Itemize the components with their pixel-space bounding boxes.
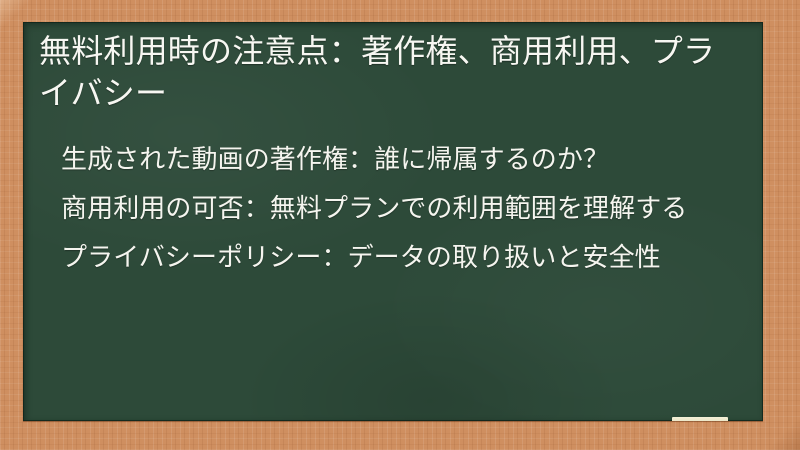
chalkboard-slide: 無料利用時の注意点：著作権、商用利用、プライバシー 生成された動画の著作権：誰に… [0, 0, 800, 450]
list-item: 生成された動画の著作権：誰に帰属するのか？ [61, 142, 743, 177]
page-title: 無料利用時の注意点：著作権、商用利用、プライバシー [39, 30, 743, 114]
bullet-list: 生成された動画の著作権：誰に帰属するのか？ 商用利用の可否：無料プランでの利用範… [39, 142, 743, 274]
chalkboard-surface: 無料利用時の注意点：著作権、商用利用、プライバシー 生成された動画の著作権：誰に… [23, 22, 763, 421]
list-item: プライバシーポリシー：データの取り扱いと安全性 [61, 240, 743, 275]
list-item: 商用利用の可否：無料プランでの利用範囲を理解する [61, 191, 743, 226]
slide-content: 無料利用時の注意点：著作権、商用利用、プライバシー 生成された動画の著作権：誰に… [23, 22, 763, 421]
chalk-stick-icon [672, 417, 728, 421]
